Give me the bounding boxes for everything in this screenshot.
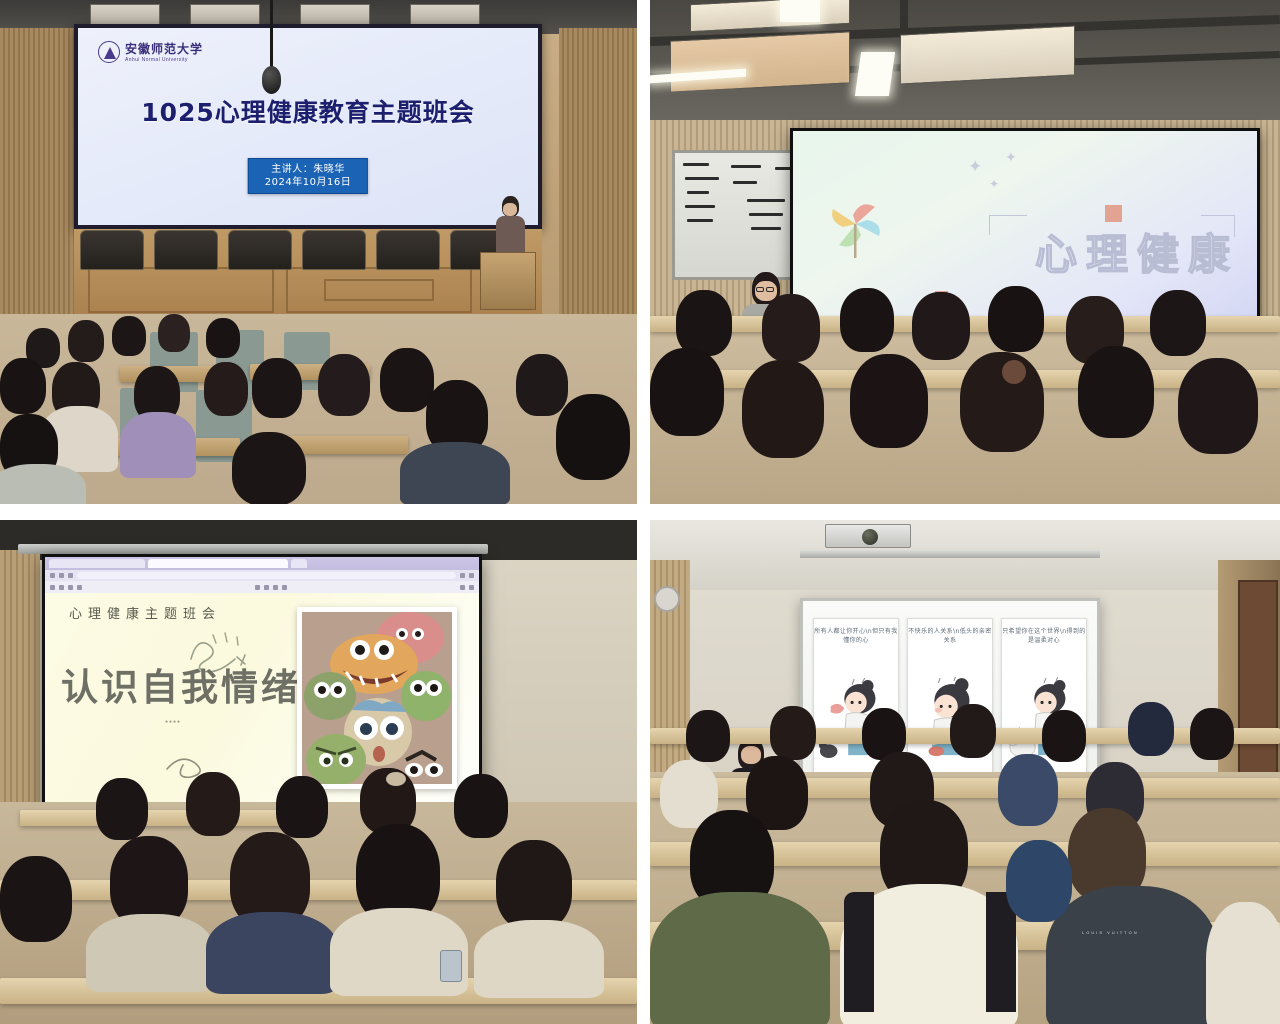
zoom-in-icon[interactable] <box>264 585 269 590</box>
screen-rail <box>18 544 488 554</box>
audience-head <box>206 318 240 358</box>
new-tab-button[interactable] <box>291 559 307 568</box>
audience-body <box>1206 902 1280 1024</box>
menu-icon[interactable] <box>469 573 474 578</box>
date-label: 2024年10月16日 <box>265 176 351 189</box>
audience-head <box>158 314 190 352</box>
stage-chair <box>228 230 292 270</box>
sparkle-icon: ✦ <box>968 157 982 177</box>
emotion-characters-illustration <box>302 612 452 784</box>
right-wall <box>559 28 637 328</box>
audience-head <box>1190 708 1234 760</box>
comic-caption: 所有人都让你开心\n但只有我懂你的心 <box>814 627 898 645</box>
stage-chair <box>302 230 366 270</box>
print-icon[interactable] <box>59 585 64 590</box>
audience-head <box>380 348 434 412</box>
audience-head <box>204 362 248 416</box>
browser-address-bar <box>45 570 479 581</box>
ceiling-projector <box>825 524 911 548</box>
audience-body <box>1046 886 1218 1024</box>
audience-head <box>232 432 306 504</box>
audience-head <box>252 358 302 418</box>
audience-body <box>206 912 338 994</box>
page-fit-icon[interactable] <box>273 585 278 590</box>
ceiling-panel <box>410 4 480 26</box>
stage-chair <box>154 230 218 270</box>
audience-body <box>400 442 510 504</box>
audience-head <box>68 320 104 362</box>
projection-screen: 安徽师范大学 Anhui Normal University 1025心理健康教… <box>74 24 542 229</box>
audience-body <box>474 920 604 998</box>
slide-speaker-badge: 主讲人：朱晓华 2024年10月16日 <box>248 158 368 194</box>
audience-head <box>318 354 370 416</box>
reload-icon[interactable] <box>68 573 73 578</box>
jacket-brand-text: LOUIS VUITTON <box>1082 930 1139 935</box>
stage-chair <box>376 230 440 270</box>
screen-rail <box>800 550 1100 558</box>
photo-panel-bottom-left: 心理健康主题班会 认识自我情绪 <box>0 520 637 1024</box>
browser-tab-bar <box>45 557 479 570</box>
audience-head <box>454 774 508 838</box>
audience-head <box>496 840 572 930</box>
ceiling-light-panel <box>900 25 1075 84</box>
audience-head <box>912 292 970 360</box>
slide-content: 安徽师范大学 Anhui Normal University 1025心理健康教… <box>78 28 538 225</box>
university-emblem-icon <box>98 41 120 63</box>
highlight-icon[interactable] <box>77 585 82 590</box>
audience-head <box>850 354 928 448</box>
url-input[interactable] <box>77 572 456 579</box>
star-icon[interactable] <box>460 573 465 578</box>
audience-head <box>112 316 146 356</box>
zoom-out-icon[interactable] <box>255 585 260 590</box>
audience-head <box>1128 702 1174 756</box>
audience-body <box>120 412 196 478</box>
audience-head <box>1150 290 1206 356</box>
hair-accessory <box>1002 360 1026 384</box>
audience-head <box>1178 358 1258 454</box>
audience-area <box>0 314 637 504</box>
ceiling-panel <box>90 4 160 26</box>
forward-icon[interactable] <box>59 573 64 578</box>
browser-tab-active[interactable] <box>148 559 288 568</box>
stage-chair <box>80 230 144 270</box>
audience-head <box>1078 346 1154 438</box>
audience-head <box>276 776 328 838</box>
slide-subtitle: 心理健康主题班会 <box>69 603 221 622</box>
left-wall <box>0 28 74 328</box>
audience-head <box>686 710 730 762</box>
audience-head <box>840 288 894 352</box>
projector-lens-icon <box>862 529 878 545</box>
save-icon[interactable] <box>68 585 73 590</box>
audience-head <box>742 360 824 458</box>
pdf-toolbar <box>45 581 479 593</box>
photo-panel-top-right: ✦ ✦ ✦ 心理健康 <box>650 0 1280 504</box>
hair-clip <box>386 772 406 786</box>
university-name-cn: 安徽师范大学 <box>125 40 203 57</box>
speaker-label: 主讲人：朱晓华 <box>265 163 351 176</box>
audience-head <box>676 290 732 356</box>
photo-collage: 安徽师范大学 Anhui Normal University 1025心理健康教… <box>0 0 1280 1024</box>
door <box>1238 580 1278 790</box>
slide-title: 1025心理健康教育主题班会 <box>78 93 538 129</box>
audience-area <box>650 324 1280 504</box>
fluorescent-tube <box>855 52 895 96</box>
audience-area: LOUIS VUITTON <box>650 772 1280 1024</box>
audience-head <box>1042 710 1086 762</box>
audience-head <box>96 778 148 840</box>
slide-content: 所有人都让你开心\n但只有我懂你的心 <box>803 601 1097 795</box>
file-icon[interactable] <box>50 585 55 590</box>
slide-small-note: ●●●● <box>165 719 181 725</box>
sparkle-icon: ✦ <box>989 177 999 191</box>
stage-chairs <box>80 230 514 270</box>
search-icon[interactable] <box>460 585 465 590</box>
audience-head <box>762 294 820 362</box>
photo-panel-top-left: 安徽师范大学 Anhui Normal University 1025心理健康教… <box>0 0 637 504</box>
ceiling-light-panel <box>670 31 850 92</box>
audience-head <box>186 772 240 836</box>
slide-image <box>297 607 457 789</box>
smartphone <box>440 950 462 982</box>
audience-head <box>0 856 72 942</box>
projection-screen: 所有人都让你开心\n但只有我懂你的心 <box>800 598 1100 798</box>
comic-caption: 只希望你在这个世界\n得到的是温柔对心 <box>1002 627 1086 645</box>
audience-body <box>0 464 86 504</box>
ceiling-panel <box>300 4 370 26</box>
rotate-icon[interactable] <box>282 585 287 590</box>
slide-title: 心理健康 <box>1035 221 1239 282</box>
audience-head <box>950 704 996 758</box>
audience-head <box>770 706 816 760</box>
audience-head <box>0 358 46 414</box>
fluorescent-tube <box>780 0 820 22</box>
university-logo: 安徽师范大学 Anhui Normal University <box>98 40 203 63</box>
decor-square <box>1105 205 1122 222</box>
photo-panel-bottom-right: 所有人都让你开心\n但只有我懂你的心 <box>650 520 1280 1024</box>
ceiling-panel <box>190 4 260 26</box>
browser-tab[interactable] <box>49 559 145 568</box>
podium <box>480 252 536 310</box>
sparkle-icon: ✦ <box>1005 149 1017 166</box>
audience-head <box>998 754 1058 826</box>
back-icon[interactable] <box>50 573 55 578</box>
security-camera-icon <box>654 586 680 612</box>
slide-headline: 认识自我情绪 <box>61 657 301 711</box>
audience-head <box>516 354 568 416</box>
audience-body <box>86 914 214 992</box>
audience-head <box>988 286 1044 352</box>
audience-head <box>1006 840 1072 922</box>
microphone-icon <box>262 66 281 94</box>
audience-body <box>650 892 830 1024</box>
fullscreen-icon[interactable] <box>469 585 474 590</box>
audience-area <box>0 802 637 1024</box>
audience-head <box>556 394 630 480</box>
university-name-en: Anhui Normal University <box>125 57 203 63</box>
pinwheel-icon <box>821 191 891 261</box>
audience-head <box>650 348 724 436</box>
comic-caption: 不快乐的人关系\n低头的亲密关系 <box>908 627 992 645</box>
